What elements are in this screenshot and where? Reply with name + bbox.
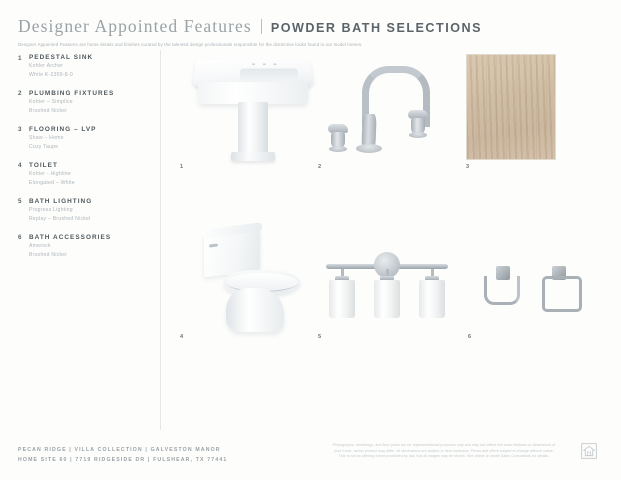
towel-ring — [542, 276, 582, 312]
list-item-brand: Kohler Archer — [29, 63, 146, 71]
faucet-hole — [273, 63, 276, 65]
list-item: 5 BATH LIGHTING Progress Lighting Replay… — [18, 198, 146, 223]
footer-community-line: PECAN RIDGE | VILLA COLLECTION | GALVEST… — [18, 446, 227, 456]
sink-apron — [198, 82, 308, 104]
title-serif-part: Designer Appointed Features — [18, 16, 252, 37]
faucet-image — [322, 52, 462, 164]
list-item-number: 5 — [18, 198, 29, 223]
selections-list: 1 PEDESTAL SINK Kohler Archer White K-23… — [18, 54, 146, 270]
list-item: 2 PLUMBING FIXTURES Kohler – Simplice Br… — [18, 90, 146, 115]
list-item-number: 4 — [18, 162, 29, 187]
list-item-detail: White K-2359-8-0 — [29, 72, 146, 80]
list-item-detail: Cozy Taupe — [29, 144, 146, 152]
product-number: 5 — [318, 334, 322, 340]
toilet-paper-holder-arm — [484, 276, 520, 305]
handle-plate — [329, 146, 347, 152]
list-item-detail: Elongated – White — [29, 180, 146, 188]
product-number: 6 — [468, 334, 472, 340]
list-item-detail: Brushed Nickel — [29, 108, 146, 116]
light-shade — [329, 280, 355, 318]
page-subtitle: Designer Appointed Features are home det… — [18, 42, 603, 48]
list-item-detail: Replay – Brushed Nickel — [29, 216, 146, 224]
list-item: 1 PEDESTAL SINK Kohler Archer White K-23… — [18, 54, 146, 79]
selection-sheet: Designer Appointed Features POWDER BATH … — [0, 0, 621, 480]
list-item-detail: Brushed Nickel — [29, 252, 146, 260]
list-item-number: 6 — [18, 234, 29, 259]
disclaimer-line: This is not an offering where prohibited… — [310, 454, 578, 460]
toilet-base — [226, 288, 284, 332]
list-item-title: PLUMBING FIXTURES — [29, 90, 146, 98]
product-pedestal-sink: 1 — [178, 52, 328, 164]
pedestal-sink-image — [178, 52, 328, 164]
sink-bowl — [240, 69, 299, 82]
list-item-brand: Amerock — [29, 243, 146, 251]
product-number: 3 — [466, 164, 470, 170]
light-shade — [419, 280, 445, 318]
page-title: Designer Appointed Features POWDER BATH … — [18, 16, 603, 37]
faucet-handle-right — [408, 108, 428, 134]
product-vanity-light: 5 — [322, 236, 452, 324]
footer-address-line: HOME SITE 60 | 7719 RIDGESIDE DR | FULSH… — [18, 456, 227, 466]
list-item-title: FLOORING – LVP — [29, 126, 146, 134]
product-widespread-faucet: 2 — [322, 52, 462, 164]
list-item-number: 3 — [18, 126, 29, 151]
faucet-base — [356, 144, 382, 153]
page-header: Designer Appointed Features POWDER BATH … — [18, 16, 603, 48]
list-item-number: 1 — [18, 54, 29, 79]
faucet-handle-left — [328, 122, 348, 148]
faucet-hole — [263, 63, 266, 65]
list-item: 4 TOILET Kohler - Highline Elongated – W… — [18, 162, 146, 187]
vanity-light-image — [322, 236, 452, 324]
list-item-title: TOILET — [29, 162, 146, 170]
list-item-title: PEDESTAL SINK — [29, 54, 146, 62]
product-bath-accessories: 6 — [480, 262, 600, 318]
footer-community-info: PECAN RIDGE | VILLA COLLECTION | GALVEST… — [18, 446, 227, 465]
list-item-number: 2 — [18, 90, 29, 115]
product-number: 2 — [318, 164, 322, 170]
product-lvp-flooring: 3 — [466, 54, 556, 160]
list-item: 3 FLOORING – LVP Shaw – Home Cozy Taupe — [18, 126, 146, 151]
sink-foot — [231, 152, 275, 161]
list-item-brand: Kohler – Simplice — [29, 99, 146, 107]
equal-housing-opportunity-icon — [581, 443, 597, 459]
flooring-swatch — [466, 54, 556, 160]
product-number: 4 — [180, 334, 184, 340]
faucet-hole — [252, 63, 255, 65]
disclaimer-line: Photographs, renderings, and floor plans… — [310, 443, 578, 449]
vertical-divider — [160, 50, 161, 430]
accessories-image — [480, 262, 600, 318]
sink-pedestal — [238, 102, 268, 158]
product-toilet: 4 — [196, 226, 316, 338]
list-item-brand: Shaw – Home — [29, 135, 146, 143]
footer-disclaimer: Photographs, renderings, and floor plans… — [310, 443, 578, 460]
title-bold-part: POWDER BATH SELECTIONS — [271, 21, 482, 35]
light-shade — [374, 280, 400, 318]
list-item: 6 BATH ACCESSORIES Amerock Brushed Nicke… — [18, 234, 146, 259]
list-item-brand: Kohler - Highline — [29, 171, 146, 179]
toilet-image — [196, 226, 316, 338]
list-item-title: BATH ACCESSORIES — [29, 234, 146, 242]
product-number: 1 — [180, 164, 184, 170]
list-item-title: BATH LIGHTING — [29, 198, 146, 206]
list-item-brand: Progress Lighting — [29, 207, 146, 215]
handle-plate — [409, 132, 427, 138]
title-divider — [261, 19, 262, 34]
